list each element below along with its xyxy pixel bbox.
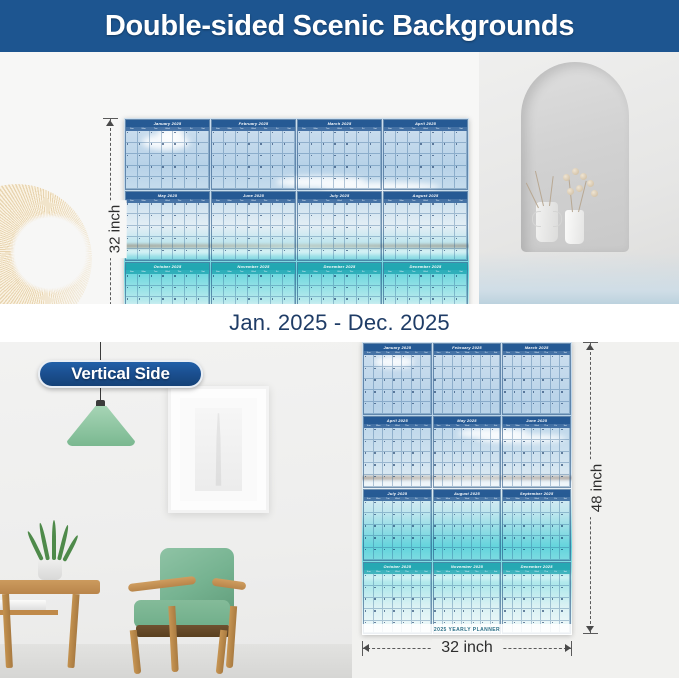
date-cell[interactable] [236, 203, 248, 215]
date-cell[interactable] [345, 297, 357, 304]
date-cell[interactable] [310, 297, 322, 304]
date-cell[interactable] [443, 131, 455, 143]
date-cell[interactable] [212, 203, 224, 215]
date-cell[interactable] [197, 214, 209, 226]
date-cell[interactable] [197, 203, 209, 215]
date-cell[interactable] [472, 379, 482, 391]
date-cell[interactable] [197, 286, 209, 298]
date-cell[interactable] [248, 214, 260, 226]
date-cell[interactable] [248, 203, 260, 215]
date-cell[interactable] [434, 598, 444, 610]
date-cell[interactable] [443, 440, 453, 452]
date-cell[interactable] [402, 390, 412, 402]
date-cell[interactable] [173, 249, 185, 261]
date-cell[interactable] [408, 166, 420, 178]
date-cell[interactable] [197, 249, 209, 261]
month-block[interactable]: July 2025SunMonTueWedThuFriSat [363, 489, 432, 561]
date-cell[interactable] [513, 402, 523, 414]
date-cell[interactable] [310, 166, 322, 178]
date-cell[interactable] [224, 143, 236, 155]
date-cell[interactable] [541, 548, 551, 560]
date-cell[interactable] [513, 463, 523, 475]
date-cell[interactable] [522, 501, 532, 513]
date-cell[interactable] [491, 548, 501, 560]
date-cell[interactable] [259, 274, 271, 286]
date-cell[interactable] [455, 249, 467, 261]
date-cell[interactable] [522, 536, 532, 548]
date-cell[interactable] [197, 154, 209, 166]
date-cell[interactable] [513, 452, 523, 464]
date-cell[interactable] [491, 609, 501, 621]
date-cell[interactable] [472, 475, 482, 487]
date-cell[interactable] [453, 598, 463, 610]
date-cell[interactable] [402, 525, 412, 537]
date-cell[interactable] [431, 177, 443, 189]
date-cell[interactable] [236, 297, 248, 304]
date-cell[interactable] [393, 525, 403, 537]
date-cell[interactable] [402, 586, 412, 598]
date-cell[interactable] [541, 501, 551, 513]
date-cell[interactable] [412, 390, 422, 402]
date-cell[interactable] [443, 226, 455, 238]
date-cell[interactable] [431, 274, 443, 286]
date-cell[interactable] [421, 452, 431, 464]
date-cell[interactable] [173, 226, 185, 238]
date-cell[interactable] [453, 452, 463, 464]
date-cell[interactable] [126, 297, 138, 304]
date-cell[interactable] [197, 143, 209, 155]
date-cell[interactable] [481, 367, 491, 379]
date-cell[interactable] [402, 609, 412, 621]
date-cell[interactable] [434, 536, 444, 548]
date-cell[interactable] [421, 609, 431, 621]
date-cell[interactable] [236, 143, 248, 155]
date-cell[interactable] [374, 501, 384, 513]
date-cell[interactable] [532, 548, 542, 560]
date-cell[interactable] [162, 297, 174, 304]
date-cell[interactable] [334, 297, 346, 304]
date-cell[interactable] [150, 131, 162, 143]
date-cell[interactable] [357, 297, 369, 304]
date-cell[interactable] [522, 525, 532, 537]
month-block[interactable]: December 2025SunMonTueWedThuFriSat [383, 262, 468, 304]
date-cell[interactable] [248, 131, 260, 143]
date-cell[interactable] [412, 379, 422, 391]
date-cell[interactable] [551, 475, 561, 487]
date-cell[interactable] [443, 274, 455, 286]
date-cell[interactable] [374, 574, 384, 586]
date-cell[interactable] [434, 574, 444, 586]
date-cell[interactable] [396, 249, 408, 261]
date-cell[interactable] [462, 598, 472, 610]
date-cell[interactable] [491, 355, 501, 367]
date-cell[interactable] [551, 586, 561, 598]
date-cell[interactable] [185, 177, 197, 189]
date-cell[interactable] [310, 214, 322, 226]
date-cell[interactable] [560, 598, 570, 610]
date-cell[interactable] [551, 463, 561, 475]
date-cell[interactable] [560, 452, 570, 464]
date-cell[interactable] [503, 525, 513, 537]
date-cell[interactable] [197, 297, 209, 304]
date-cell[interactable] [334, 154, 346, 166]
date-cell[interactable] [322, 166, 334, 178]
date-cell[interactable] [551, 598, 561, 610]
date-cell[interactable] [126, 143, 138, 155]
date-cell[interactable] [453, 475, 463, 487]
date-cell[interactable] [236, 286, 248, 298]
date-cell[interactable] [443, 297, 455, 304]
date-cell[interactable] [310, 249, 322, 261]
date-cell[interactable] [396, 203, 408, 215]
date-cell[interactable] [503, 452, 513, 464]
date-cell[interactable] [462, 574, 472, 586]
date-cell[interactable] [472, 452, 482, 464]
date-cell[interactable] [491, 501, 501, 513]
date-cell[interactable] [369, 154, 381, 166]
date-cell[interactable] [138, 143, 150, 155]
date-cell[interactable] [384, 154, 396, 166]
date-cell[interactable] [357, 286, 369, 298]
date-cell[interactable] [443, 609, 453, 621]
date-cell[interactable] [455, 177, 467, 189]
date-cell[interactable] [259, 297, 271, 304]
date-cell[interactable] [298, 237, 310, 249]
date-cell[interactable] [503, 355, 513, 367]
date-cell[interactable] [224, 131, 236, 143]
date-cell[interactable] [322, 297, 334, 304]
date-cell[interactable] [472, 390, 482, 402]
date-cell[interactable] [236, 214, 248, 226]
date-cell[interactable] [412, 355, 422, 367]
date-cell[interactable] [162, 166, 174, 178]
date-cell[interactable] [513, 586, 523, 598]
date-cell[interactable] [503, 501, 513, 513]
date-cell[interactable] [173, 177, 185, 189]
date-cell[interactable] [532, 501, 542, 513]
date-cell[interactable] [384, 166, 396, 178]
date-cell[interactable] [322, 203, 334, 215]
date-cell[interactable] [453, 428, 463, 440]
date-cell[interactable] [541, 525, 551, 537]
month-block[interactable]: August 2025SunMonTueWedThuFriSat [383, 191, 468, 262]
date-cell[interactable] [364, 463, 374, 475]
date-cell[interactable] [491, 586, 501, 598]
date-cell[interactable] [283, 154, 295, 166]
date-cell[interactable] [491, 513, 501, 525]
date-cell[interactable] [369, 237, 381, 249]
date-cell[interactable] [453, 536, 463, 548]
date-cell[interactable] [173, 297, 185, 304]
date-cell[interactable] [357, 237, 369, 249]
date-cell[interactable] [532, 598, 542, 610]
date-cell[interactable] [551, 536, 561, 548]
date-cell[interactable] [212, 226, 224, 238]
date-cell[interactable] [334, 143, 346, 155]
date-cell[interactable] [224, 177, 236, 189]
date-cell[interactable] [150, 249, 162, 261]
date-cell[interactable] [310, 203, 322, 215]
date-cell[interactable] [212, 286, 224, 298]
date-cell[interactable] [364, 574, 374, 586]
date-cell[interactable] [173, 286, 185, 298]
date-cell[interactable] [396, 237, 408, 249]
date-cell[interactable] [481, 513, 491, 525]
date-cell[interactable] [384, 214, 396, 226]
date-cell[interactable] [224, 274, 236, 286]
date-cell[interactable] [443, 501, 453, 513]
date-cell[interactable] [126, 249, 138, 261]
date-cell[interactable] [298, 249, 310, 261]
date-cell[interactable] [532, 525, 542, 537]
date-cell[interactable] [138, 249, 150, 261]
date-cell[interactable] [481, 379, 491, 391]
date-cell[interactable] [443, 355, 453, 367]
date-cell[interactable] [138, 203, 150, 215]
date-cell[interactable] [503, 536, 513, 548]
date-cell[interactable] [443, 286, 455, 298]
date-cell[interactable] [402, 379, 412, 391]
date-cell[interactable] [384, 131, 396, 143]
date-cell[interactable] [396, 297, 408, 304]
date-cell[interactable] [185, 154, 197, 166]
date-cell[interactable] [236, 226, 248, 238]
date-cell[interactable] [138, 154, 150, 166]
date-cell[interactable] [364, 390, 374, 402]
month-block[interactable]: December 2025SunMonTueWedThuFriSat [297, 262, 382, 304]
date-cell[interactable] [434, 355, 444, 367]
date-cell[interactable] [369, 203, 381, 215]
date-cell[interactable] [383, 402, 393, 414]
date-cell[interactable] [126, 166, 138, 178]
date-cell[interactable] [369, 131, 381, 143]
date-cell[interactable] [560, 609, 570, 621]
date-cell[interactable] [541, 536, 551, 548]
date-cell[interactable] [560, 548, 570, 560]
month-block[interactable]: May 2025SunMonTueWedThuFriSat [433, 416, 502, 488]
date-cell[interactable] [402, 402, 412, 414]
date-cell[interactable] [481, 428, 491, 440]
date-cell[interactable] [248, 237, 260, 249]
date-cell[interactable] [431, 249, 443, 261]
date-cell[interactable] [462, 440, 472, 452]
date-cell[interactable] [522, 452, 532, 464]
date-cell[interactable] [248, 274, 260, 286]
date-cell[interactable] [298, 154, 310, 166]
date-cell[interactable] [384, 297, 396, 304]
date-cell[interactable] [481, 355, 491, 367]
date-cell[interactable] [434, 390, 444, 402]
date-cell[interactable] [481, 536, 491, 548]
date-cell[interactable] [259, 286, 271, 298]
date-cell[interactable] [408, 143, 420, 155]
date-cell[interactable] [334, 203, 346, 215]
date-cell[interactable] [408, 154, 420, 166]
date-cell[interactable] [374, 536, 384, 548]
date-cell[interactable] [453, 548, 463, 560]
date-cell[interactable] [345, 237, 357, 249]
date-cell[interactable] [551, 501, 561, 513]
date-cell[interactable] [513, 390, 523, 402]
date-cell[interactable] [162, 203, 174, 215]
date-cell[interactable] [560, 586, 570, 598]
date-cell[interactable] [455, 203, 467, 215]
month-block[interactable]: March 2025SunMonTueWedThuFriSat [297, 119, 382, 190]
date-cell[interactable] [374, 379, 384, 391]
date-cell[interactable] [408, 297, 420, 304]
month-block[interactable]: May 2025SunMonTueWedThuFriSat [125, 191, 210, 262]
date-cell[interactable] [364, 440, 374, 452]
date-cell[interactable] [259, 131, 271, 143]
date-cell[interactable] [532, 367, 542, 379]
date-cell[interactable] [126, 237, 138, 249]
date-cell[interactable] [374, 609, 384, 621]
date-cell[interactable] [532, 428, 542, 440]
date-cell[interactable] [162, 274, 174, 286]
date-cell[interactable] [271, 154, 283, 166]
date-cell[interactable] [462, 548, 472, 560]
date-cell[interactable] [369, 297, 381, 304]
date-cell[interactable] [481, 501, 491, 513]
date-cell[interactable] [560, 428, 570, 440]
date-cell[interactable] [283, 177, 295, 189]
date-cell[interactable] [532, 355, 542, 367]
date-cell[interactable] [374, 548, 384, 560]
date-cell[interactable] [420, 297, 432, 304]
date-cell[interactable] [374, 355, 384, 367]
date-cell[interactable] [412, 609, 422, 621]
date-cell[interactable] [491, 525, 501, 537]
date-cell[interactable] [462, 586, 472, 598]
date-cell[interactable] [322, 143, 334, 155]
date-cell[interactable] [541, 463, 551, 475]
date-cell[interactable] [383, 379, 393, 391]
date-cell[interactable] [462, 452, 472, 464]
date-cell[interactable] [412, 548, 422, 560]
date-cell[interactable] [443, 237, 455, 249]
date-cell[interactable] [431, 286, 443, 298]
date-cell[interactable] [472, 586, 482, 598]
date-cell[interactable] [248, 177, 260, 189]
date-cell[interactable] [212, 249, 224, 261]
date-cell[interactable] [443, 249, 455, 261]
date-cell[interactable] [443, 536, 453, 548]
date-cell[interactable] [421, 586, 431, 598]
date-cell[interactable] [259, 203, 271, 215]
date-cell[interactable] [374, 586, 384, 598]
date-cell[interactable] [126, 131, 138, 143]
date-cell[interactable] [271, 297, 283, 304]
date-cell[interactable] [560, 475, 570, 487]
date-cell[interactable] [357, 274, 369, 286]
date-cell[interactable] [412, 475, 422, 487]
date-cell[interactable] [369, 166, 381, 178]
date-cell[interactable] [462, 367, 472, 379]
date-cell[interactable] [420, 226, 432, 238]
date-cell[interactable] [248, 286, 260, 298]
date-cell[interactable] [298, 203, 310, 215]
date-cell[interactable] [412, 367, 422, 379]
date-cell[interactable] [138, 166, 150, 178]
date-cell[interactable] [522, 355, 532, 367]
date-cell[interactable] [393, 402, 403, 414]
date-cell[interactable] [443, 525, 453, 537]
date-cell[interactable] [369, 143, 381, 155]
date-cell[interactable] [551, 355, 561, 367]
date-cell[interactable] [421, 574, 431, 586]
date-cell[interactable] [434, 428, 444, 440]
date-cell[interactable] [491, 367, 501, 379]
vertical-side-badge[interactable]: Vertical Side [38, 360, 203, 388]
date-cell[interactable] [383, 598, 393, 610]
date-cell[interactable] [513, 475, 523, 487]
date-cell[interactable] [334, 131, 346, 143]
date-cell[interactable] [402, 475, 412, 487]
date-cell[interactable] [434, 452, 444, 464]
date-cell[interactable] [541, 428, 551, 440]
date-cell[interactable] [503, 574, 513, 586]
date-cell[interactable] [462, 536, 472, 548]
date-cell[interactable] [212, 166, 224, 178]
date-cell[interactable] [420, 154, 432, 166]
date-cell[interactable] [364, 475, 374, 487]
date-cell[interactable] [421, 355, 431, 367]
date-cell[interactable] [271, 214, 283, 226]
date-cell[interactable] [374, 598, 384, 610]
date-cell[interactable] [334, 226, 346, 238]
vertical-calendar-poster[interactable]: January 2025SunMonTueWedThuFriSatFebruar… [362, 342, 572, 635]
date-cell[interactable] [522, 428, 532, 440]
date-cell[interactable] [541, 574, 551, 586]
date-cell[interactable] [453, 402, 463, 414]
date-cell[interactable] [383, 574, 393, 586]
date-cell[interactable] [453, 367, 463, 379]
date-cell[interactable] [551, 367, 561, 379]
date-cell[interactable] [491, 452, 501, 464]
date-cell[interactable] [197, 131, 209, 143]
date-cell[interactable] [322, 274, 334, 286]
month-block[interactable]: April 2025SunMonTueWedThuFriSat [383, 119, 468, 190]
date-cell[interactable] [420, 237, 432, 249]
date-cell[interactable] [522, 598, 532, 610]
month-block[interactable]: April 2025SunMonTueWedThuFriSat [363, 416, 432, 488]
date-cell[interactable] [412, 574, 422, 586]
date-cell[interactable] [402, 428, 412, 440]
date-cell[interactable] [393, 586, 403, 598]
date-cell[interactable] [357, 203, 369, 215]
date-cell[interactable] [522, 402, 532, 414]
date-cell[interactable] [396, 226, 408, 238]
date-cell[interactable] [310, 274, 322, 286]
date-cell[interactable] [420, 249, 432, 261]
date-cell[interactable] [393, 390, 403, 402]
date-cell[interactable] [408, 249, 420, 261]
date-cell[interactable] [374, 463, 384, 475]
date-cell[interactable] [224, 237, 236, 249]
date-cell[interactable] [357, 154, 369, 166]
date-cell[interactable] [369, 226, 381, 238]
date-cell[interactable] [522, 586, 532, 598]
date-cell[interactable] [513, 598, 523, 610]
date-cell[interactable] [173, 166, 185, 178]
date-cell[interactable] [503, 402, 513, 414]
date-cell[interactable] [412, 598, 422, 610]
date-cell[interactable] [532, 440, 542, 452]
date-cell[interactable] [462, 379, 472, 391]
date-cell[interactable] [357, 177, 369, 189]
date-cell[interactable] [532, 379, 542, 391]
date-cell[interactable] [212, 154, 224, 166]
